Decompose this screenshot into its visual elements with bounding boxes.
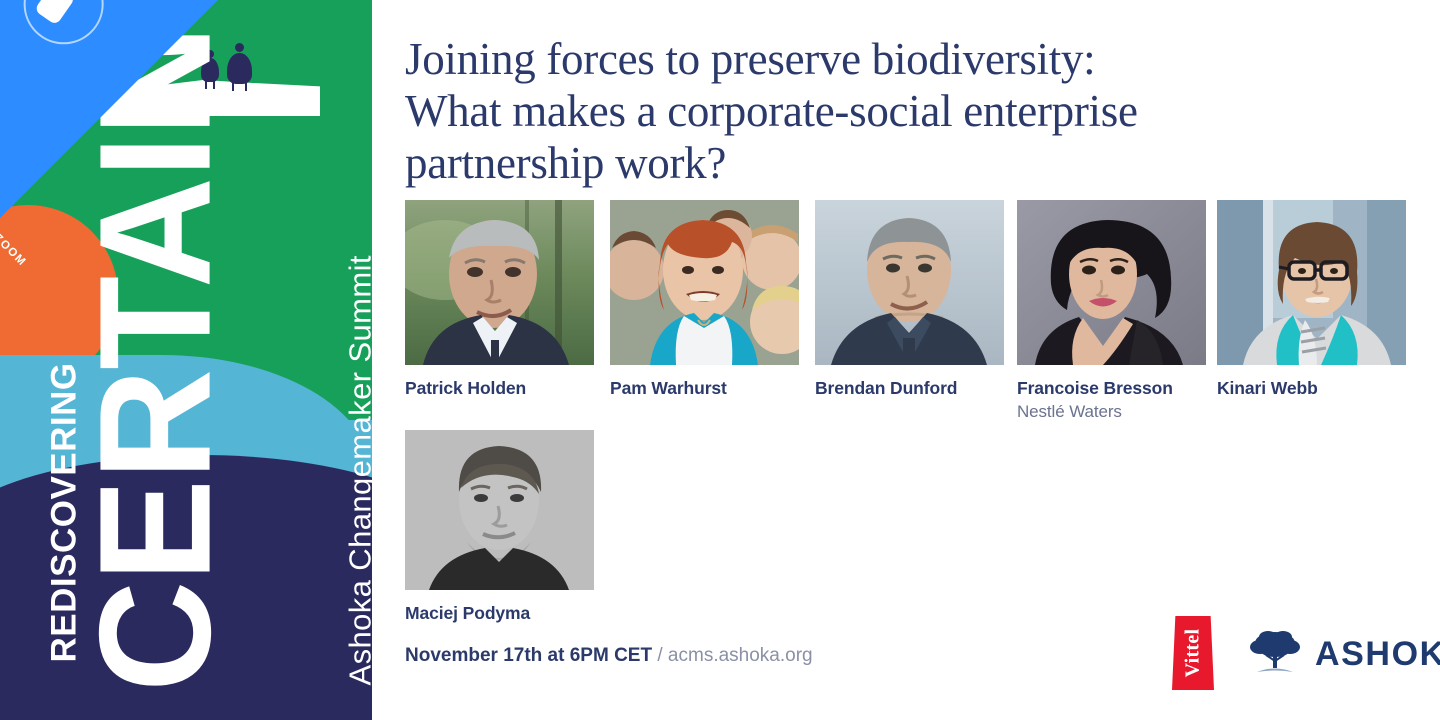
speaker-name: Patrick Holden [405, 378, 594, 399]
ashoka-wordmark: ASHOKA [1315, 635, 1440, 674]
vittel-logo-text: Vittel [1182, 629, 1205, 678]
speaker-card: Pam Warhurst [610, 200, 799, 399]
speaker-org: Nestlé Waters [1017, 402, 1206, 422]
speaker-photo [1217, 200, 1406, 365]
speaker-card: Kinari Webb [1217, 200, 1406, 399]
speaker-name: Brendan Dunford [815, 378, 1004, 399]
ashoka-logo: ASHOKA [1248, 626, 1440, 682]
person-leg-right-b [245, 82, 247, 91]
speaker-photo [405, 200, 594, 365]
speaker-name: Maciej Podyma [405, 603, 594, 624]
speaker-photo [610, 200, 799, 365]
event-url[interactable]: acms.ashoka.org [668, 645, 813, 666]
webinar-promo-poster: CERTAINTY REDISCOVERING Ashoka Changemak… [0, 0, 1440, 720]
event-footer: November 17th at 6PM CET / acms.ashoka.o… [405, 645, 813, 667]
page-title: Joining forces to preserve biodiversity:… [405, 33, 1385, 190]
title-line-3: partnership work? [405, 137, 1385, 189]
speaker-card: Francoise Bresson Nestlé Waters [1017, 200, 1206, 422]
speaker-card: Patrick Holden [405, 200, 594, 399]
speaker-card: Brendan Dunford [815, 200, 1004, 399]
event-date: November 17th at 6PM CET [405, 645, 652, 666]
panel-headline-large: CERTAINTY [76, 0, 235, 692]
speaker-name: Pam Warhurst [610, 378, 799, 399]
footer-separator: / [652, 645, 668, 666]
title-line-1: Joining forces to preserve biodiversity: [405, 33, 1385, 85]
tree-icon [1248, 628, 1302, 681]
speaker-card: Maciej Podyma [405, 430, 594, 624]
left-branding-panel: CERTAINTY REDISCOVERING Ashoka Changemak… [0, 0, 372, 720]
event-name-label: Ashoka Changemaker Summit [345, 186, 373, 686]
panel-headline-small: REDISCOVERING [47, 363, 82, 663]
speaker-photo [815, 200, 1004, 365]
speaker-name: Francoise Bresson [1017, 378, 1206, 399]
speaker-name: Kinari Webb [1217, 378, 1406, 399]
vittel-logo: Vittel [1172, 616, 1214, 690]
speaker-photo [1017, 200, 1206, 365]
speaker-photo [405, 430, 594, 590]
title-line-2: What makes a corporate-social enterprise [405, 85, 1385, 137]
main-content: Joining forces to preserve biodiversity:… [372, 0, 1440, 720]
